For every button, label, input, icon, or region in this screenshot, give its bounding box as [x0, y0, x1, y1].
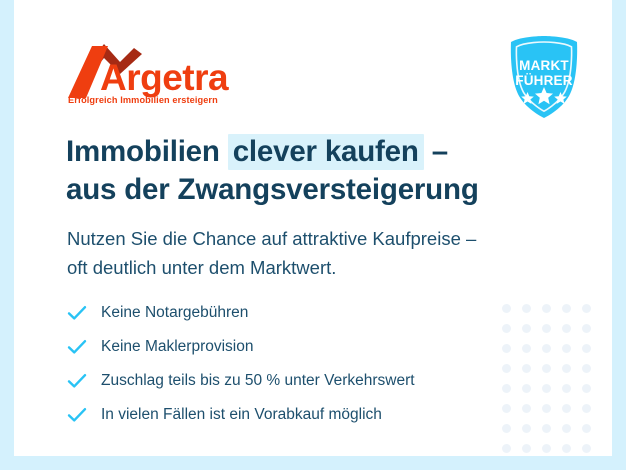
decorative-dot	[562, 304, 571, 313]
decorative-dot	[582, 304, 591, 313]
svg-text:FÜHRER: FÜHRER	[515, 73, 572, 88]
decorative-dot	[562, 384, 571, 393]
list-item: Keine Notargebühren	[67, 298, 537, 328]
decorative-dot	[582, 384, 591, 393]
decorative-dot	[582, 444, 591, 453]
decorative-dot	[562, 364, 571, 373]
headline-part2: –	[424, 135, 448, 168]
list-item-label: Keine Maklerprovision	[93, 336, 254, 358]
decorative-dot	[562, 444, 571, 453]
check-icon	[67, 336, 93, 358]
decorative-dot	[562, 424, 571, 433]
check-icon	[67, 302, 93, 324]
headline-part1: Immobilien	[66, 135, 228, 168]
decorative-dot	[542, 404, 551, 413]
page-title: Immobilien clever kaufen – aus der Zwang…	[66, 133, 586, 209]
subheadline: Nutzen Sie die Chance auf attraktive Kau…	[67, 224, 587, 282]
list-item-label: In vielen Fällen ist ein Vorabkauf mögli…	[93, 404, 382, 426]
check-icon	[67, 370, 93, 392]
decorative-dot	[542, 324, 551, 333]
decorative-dot	[542, 344, 551, 353]
decorative-dot	[582, 404, 591, 413]
decorative-dot	[542, 304, 551, 313]
headline-line2: aus der Zwangsversteigerung	[66, 171, 586, 209]
list-item: Keine Maklerprovision	[67, 332, 537, 362]
decorative-dot	[542, 444, 551, 453]
decorative-dot	[542, 364, 551, 373]
decorative-dot	[582, 324, 591, 333]
subheadline-line1: Nutzen Sie die Chance auf attraktive Kau…	[67, 224, 587, 253]
white-card: Argetra Erfolgreich Immobilien ersteiger…	[14, 0, 612, 456]
decorative-dot	[502, 444, 511, 453]
decorative-dot	[582, 424, 591, 433]
list-item-label: Zuschlag teils bis zu 50 % unter Verkehr…	[93, 370, 415, 392]
decorative-dot	[562, 404, 571, 413]
argetra-logo[interactable]: Argetra Erfolgreich Immobilien ersteiger…	[68, 40, 278, 106]
decorative-dot	[542, 424, 551, 433]
decorative-dot	[542, 384, 551, 393]
decorative-dot	[522, 444, 531, 453]
svg-text:Argetra: Argetra	[100, 57, 229, 98]
decorative-dot	[582, 364, 591, 373]
headline-highlight: clever kaufen	[228, 134, 424, 170]
subheadline-line2: oft deutlich unter dem Marktwert.	[67, 253, 587, 282]
list-item: Zuschlag teils bis zu 50 % unter Verkehr…	[67, 366, 537, 396]
list-item: In vielen Fällen ist ein Vorabkauf mögli…	[67, 400, 537, 430]
benefits-checklist: Keine NotargebührenKeine Maklerprovision…	[67, 298, 537, 434]
market-leader-badge: MARKT FÜHRER	[503, 34, 585, 122]
ad-banner: Argetra Erfolgreich Immobilien ersteiger…	[0, 0, 626, 470]
list-item-label: Keine Notargebühren	[93, 302, 248, 324]
decorative-dot	[582, 344, 591, 353]
check-icon	[67, 404, 93, 426]
decorative-dot	[562, 324, 571, 333]
svg-text:Erfolgreich Immobilien ersteig: Erfolgreich Immobilien ersteigern	[68, 95, 218, 105]
svg-text:MARKT: MARKT	[519, 58, 569, 73]
decorative-dot	[562, 344, 571, 353]
